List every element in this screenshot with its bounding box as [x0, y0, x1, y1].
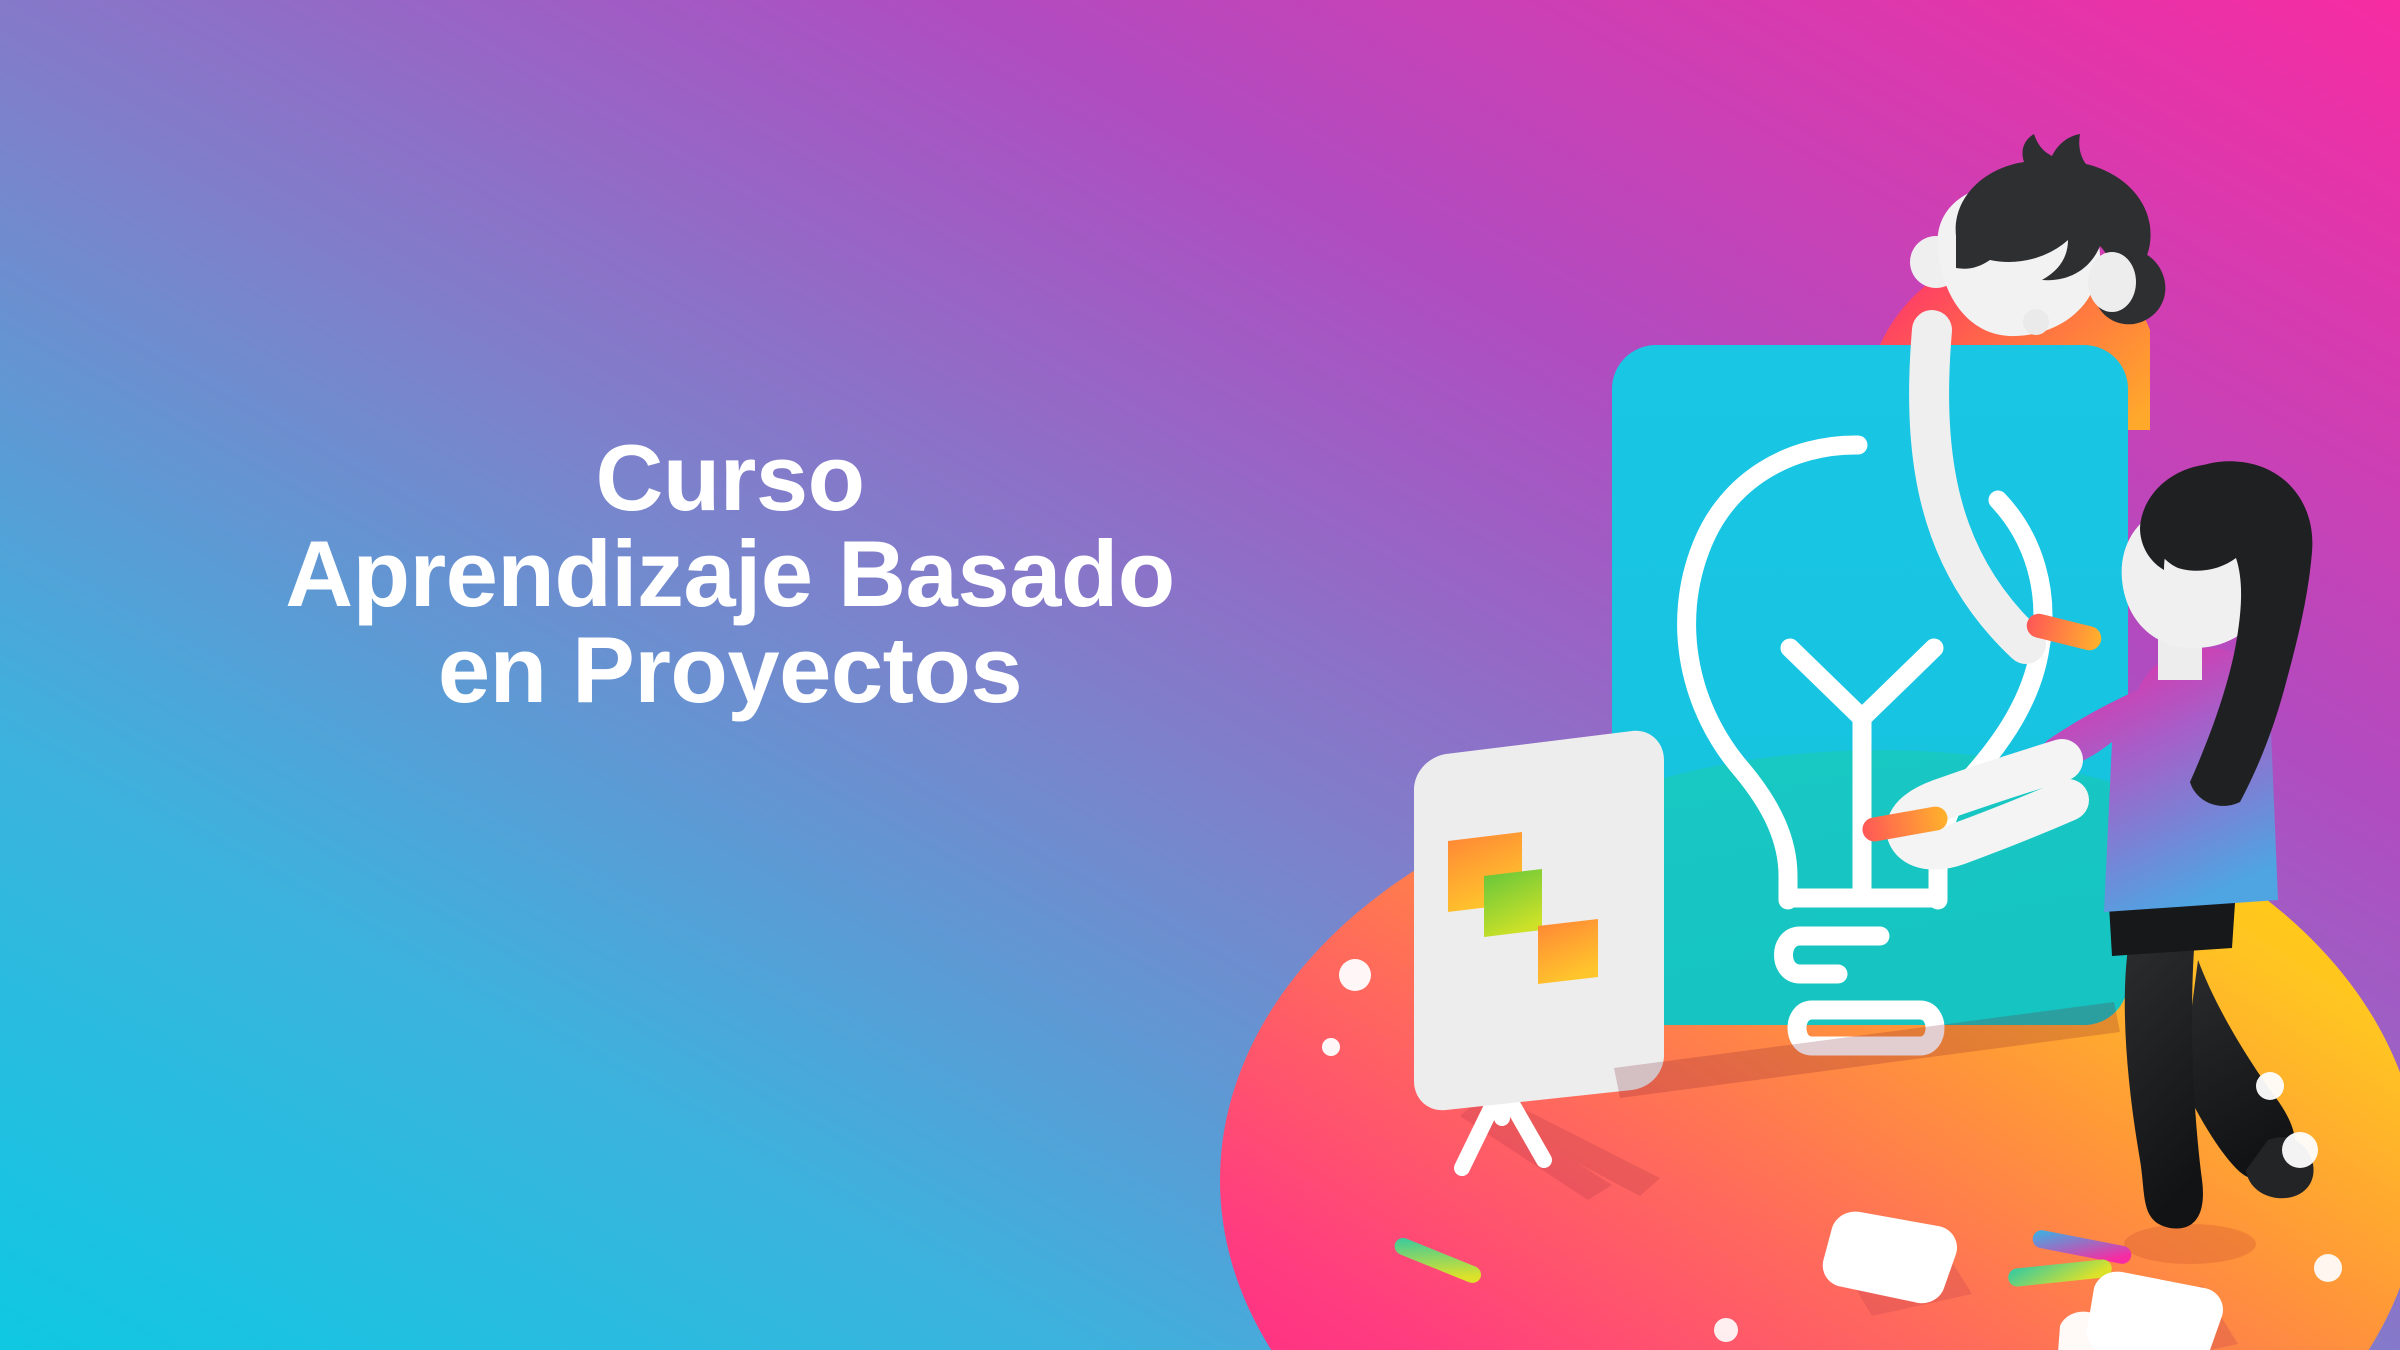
- sticky-note-orange-2: [1538, 919, 1598, 984]
- shoulder-blob: [2088, 252, 2136, 312]
- title-line-1: Curso: [0, 430, 1460, 526]
- page-title: Curso Aprendizaje Basado en Proyectos: [0, 430, 1460, 718]
- title-line-3: en Proyectos: [0, 622, 1460, 718]
- sticky-note-green: [1484, 869, 1542, 937]
- title-line-2: Aprendizaje Basado: [0, 526, 1460, 622]
- slide-canvas: Curso Aprendizaje Basado en Proyectos: [0, 0, 2400, 1350]
